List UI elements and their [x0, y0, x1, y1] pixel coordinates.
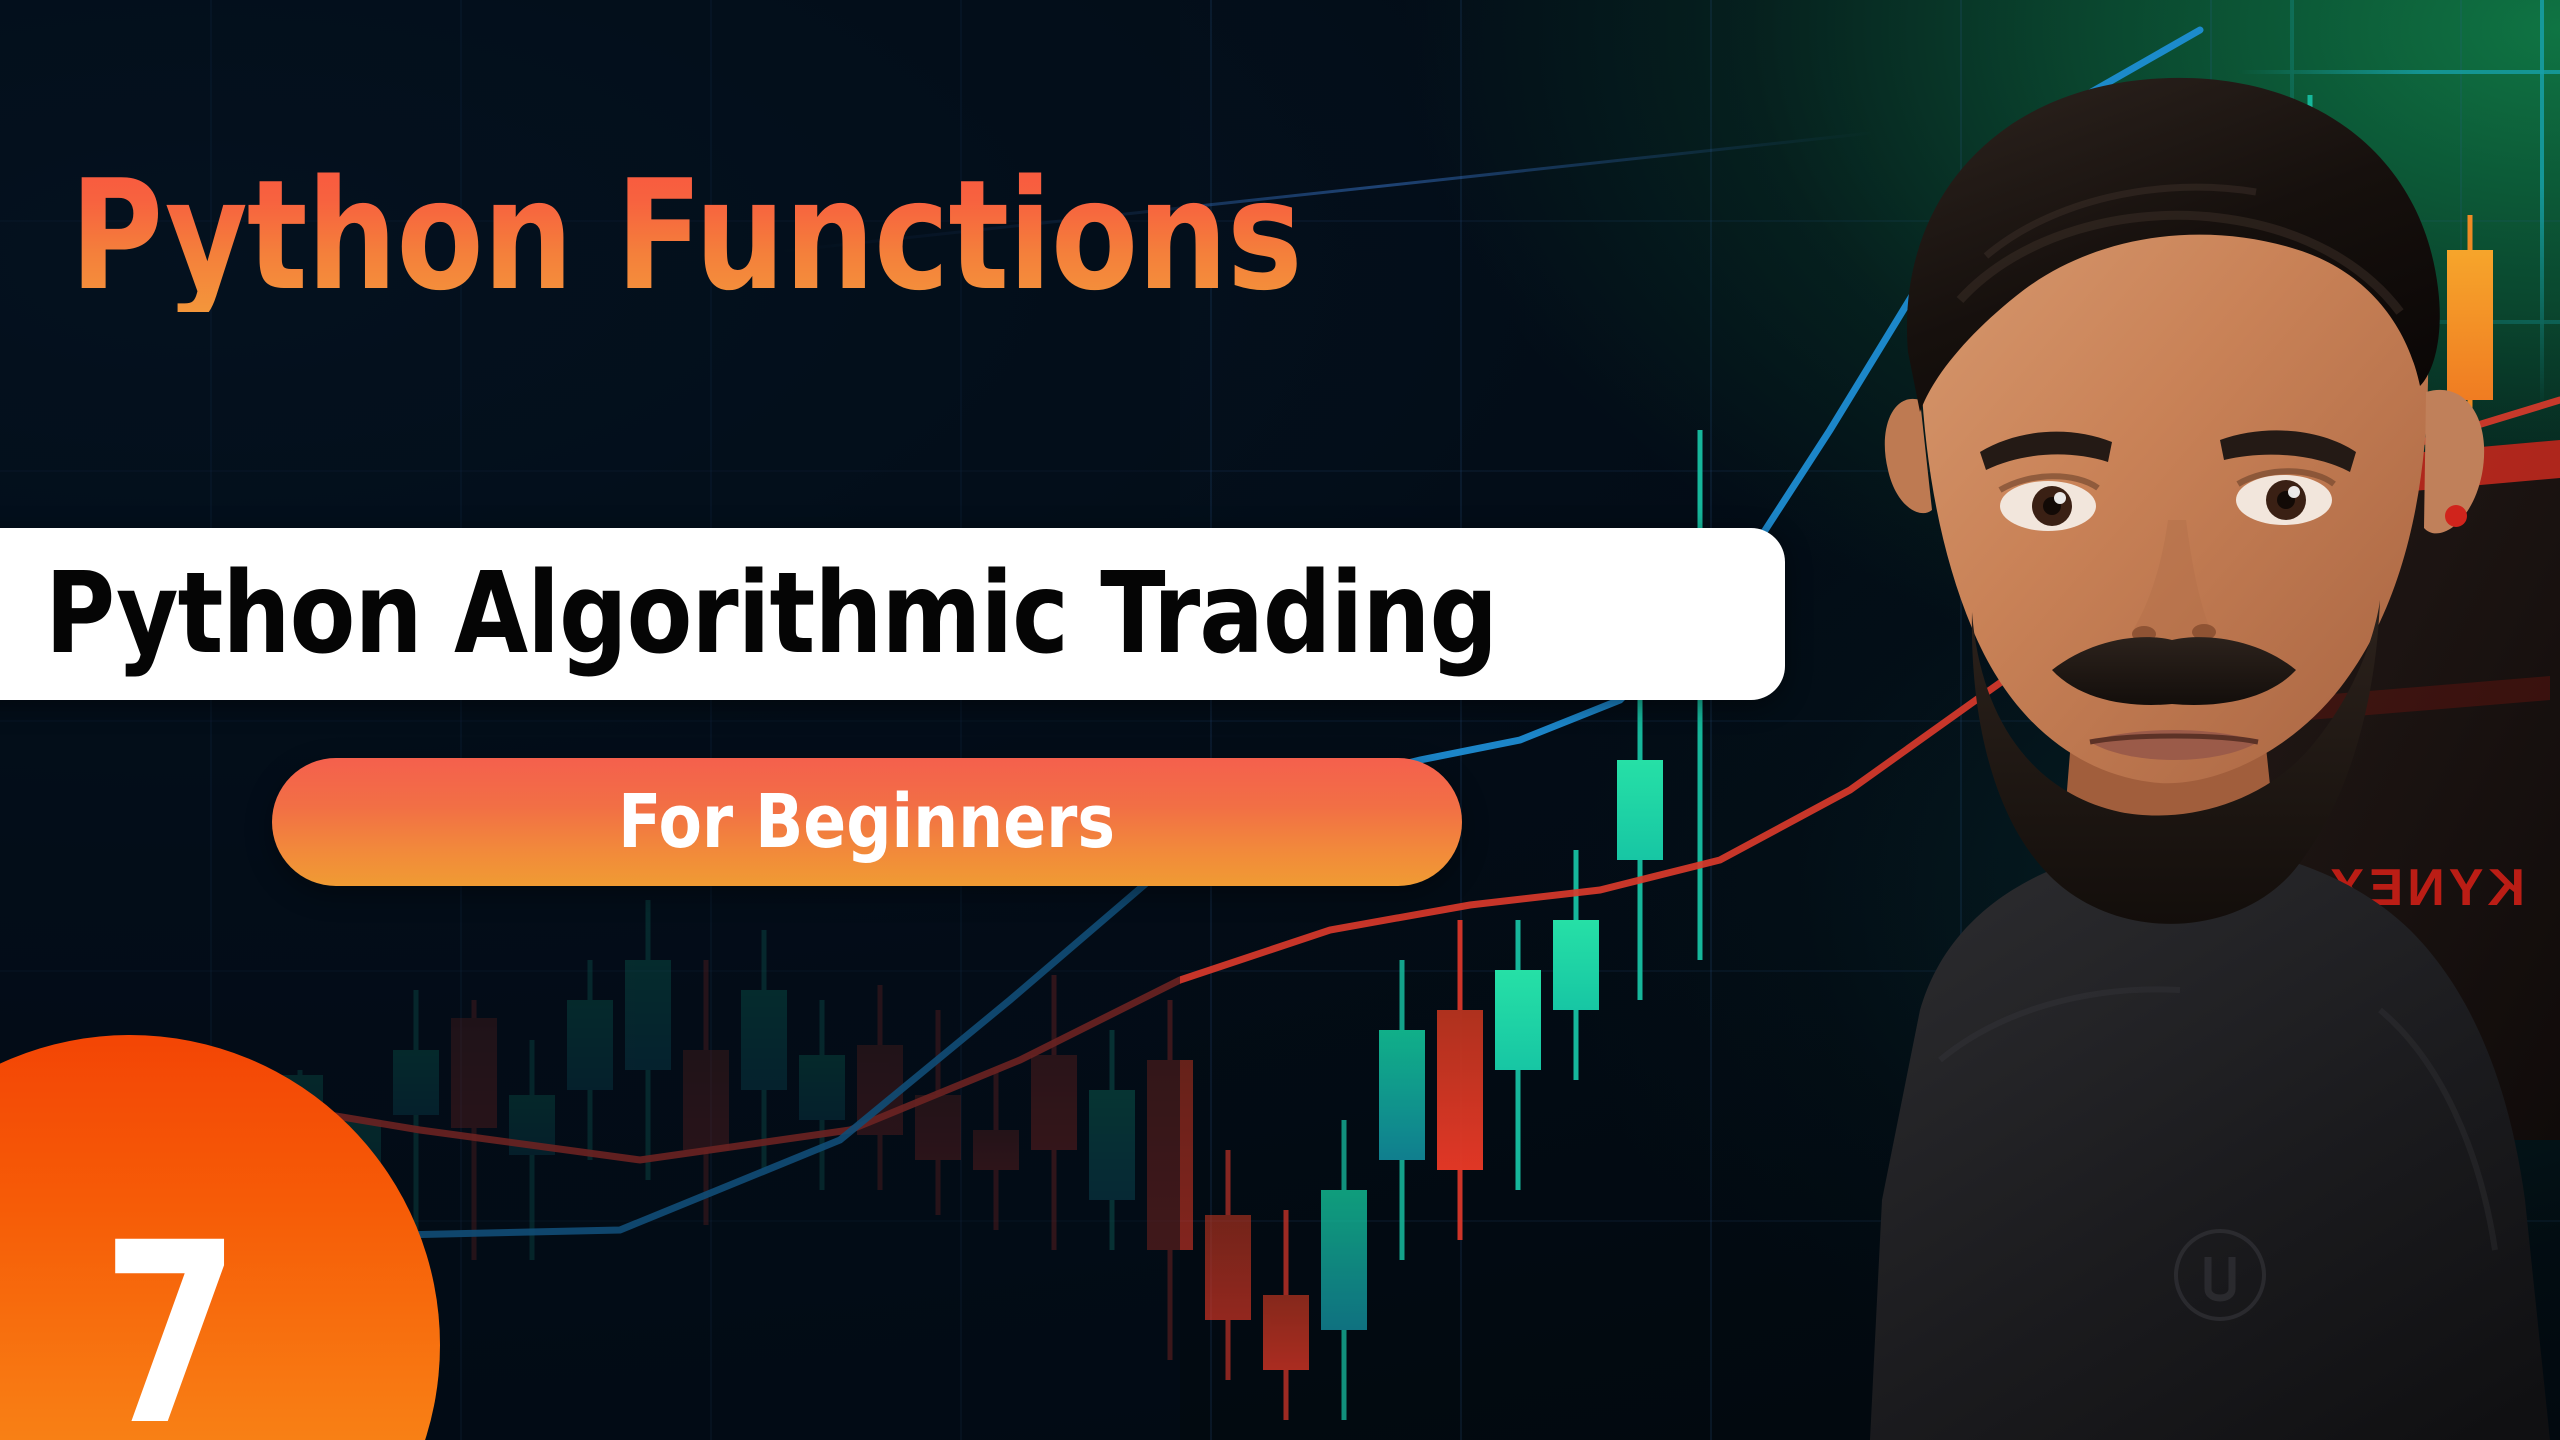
candlestick	[1321, 1120, 1367, 1420]
candlestick	[1553, 850, 1599, 1080]
earring	[2445, 505, 2467, 527]
audience-pill: For Beginners	[272, 758, 1462, 886]
page-title: Python Functions	[70, 160, 1302, 312]
presenter-photo: KYNEX	[1620, 0, 2560, 1440]
candlestick	[1495, 920, 1541, 1190]
subtitle-banner-text: Python Algorithmic Trading	[45, 549, 1497, 679]
audience-pill-label: For Beginners	[619, 779, 1116, 865]
candlestick	[1263, 1210, 1309, 1420]
candlestick	[1437, 920, 1483, 1240]
candlestick	[1379, 960, 1425, 1260]
youtube-thumbnail: KYNEX	[0, 0, 2560, 1440]
episode-number: 7	[102, 1210, 240, 1440]
candlestick	[1205, 1150, 1251, 1380]
subtitle-banner: Python Algorithmic Trading	[0, 528, 1785, 700]
